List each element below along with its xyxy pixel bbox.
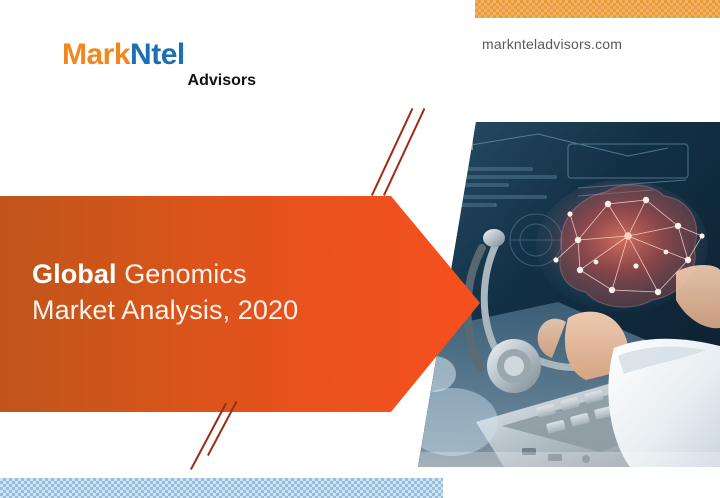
hero-title: Global Genomics Market Analysis, 2020 bbox=[32, 256, 412, 328]
dotted-blue-band bbox=[0, 478, 443, 498]
hero-title-line-two: Market Analysis, 2020 bbox=[32, 295, 298, 325]
brand-logo-ntel-text: Ntel bbox=[130, 38, 185, 71]
brand-logo[interactable]: MarkNtel Advisors bbox=[62, 40, 262, 89]
dotted-orange-band bbox=[475, 0, 720, 18]
diagonal-accent-line-top-1 bbox=[371, 108, 413, 196]
diagonal-accent-line-bottom-1 bbox=[190, 403, 227, 470]
hero-title-rest: Genomics bbox=[117, 259, 247, 289]
hero-title-strong: Global bbox=[32, 259, 117, 289]
brand-logo-subtitle: Advisors bbox=[62, 73, 262, 89]
brand-logo-mark-text: Mark bbox=[62, 38, 130, 71]
slide-canvas: MarkNtel Advisors marknteladvisors.com bbox=[0, 0, 720, 498]
website-url[interactable]: marknteladvisors.com bbox=[482, 36, 622, 52]
brand-logo-wordmark: MarkNtel bbox=[62, 40, 262, 70]
